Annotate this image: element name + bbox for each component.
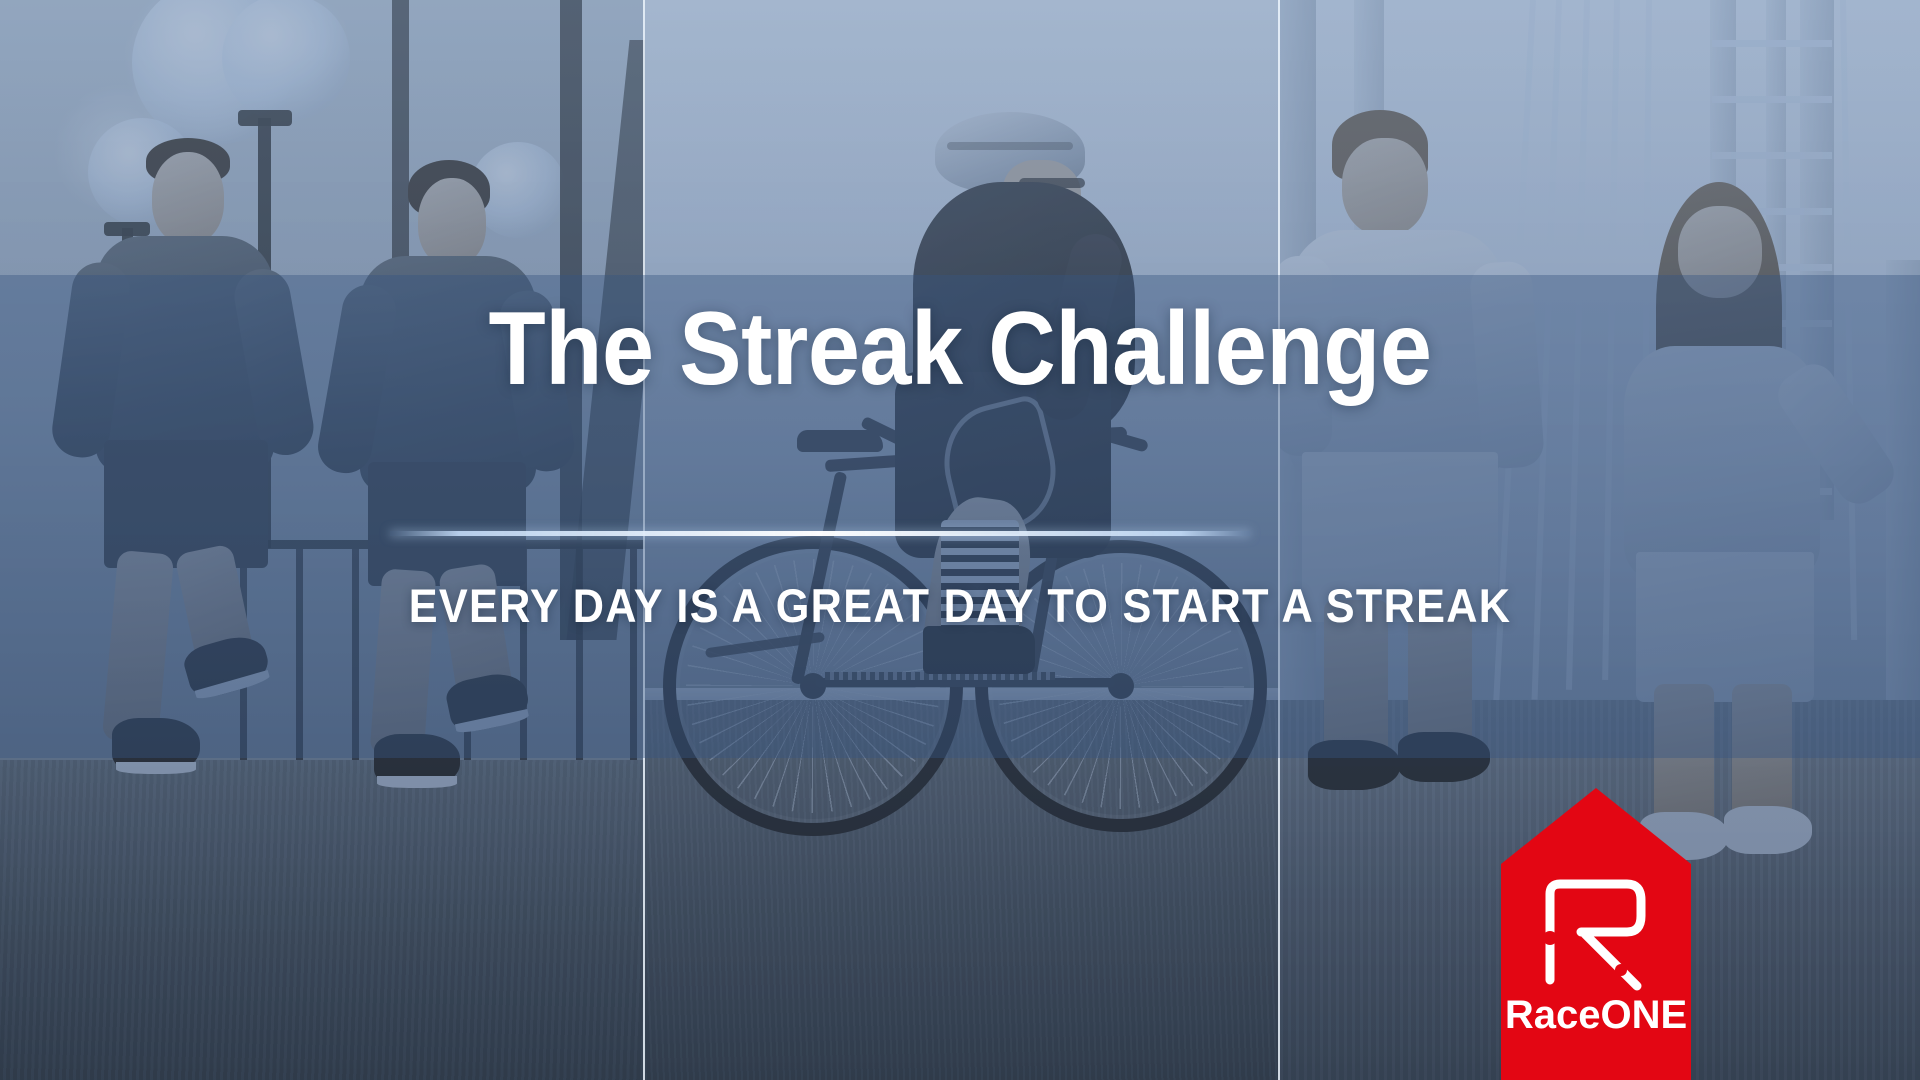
title-divider	[390, 531, 1250, 536]
overlay-band	[0, 275, 1920, 758]
logo-track-marker	[1543, 931, 1557, 945]
page-subtitle: EVERY DAY IS A GREAT DAY TO START A STRE…	[77, 578, 1843, 633]
raceone-logo[interactable]: RaceONE	[1501, 788, 1691, 1080]
logo-track-marker	[1615, 964, 1627, 976]
logo-wordmark: RaceONE	[1505, 993, 1687, 1037]
hero-banner: The Streak Challenge EVERY DAY IS A GREA…	[0, 0, 1920, 1080]
